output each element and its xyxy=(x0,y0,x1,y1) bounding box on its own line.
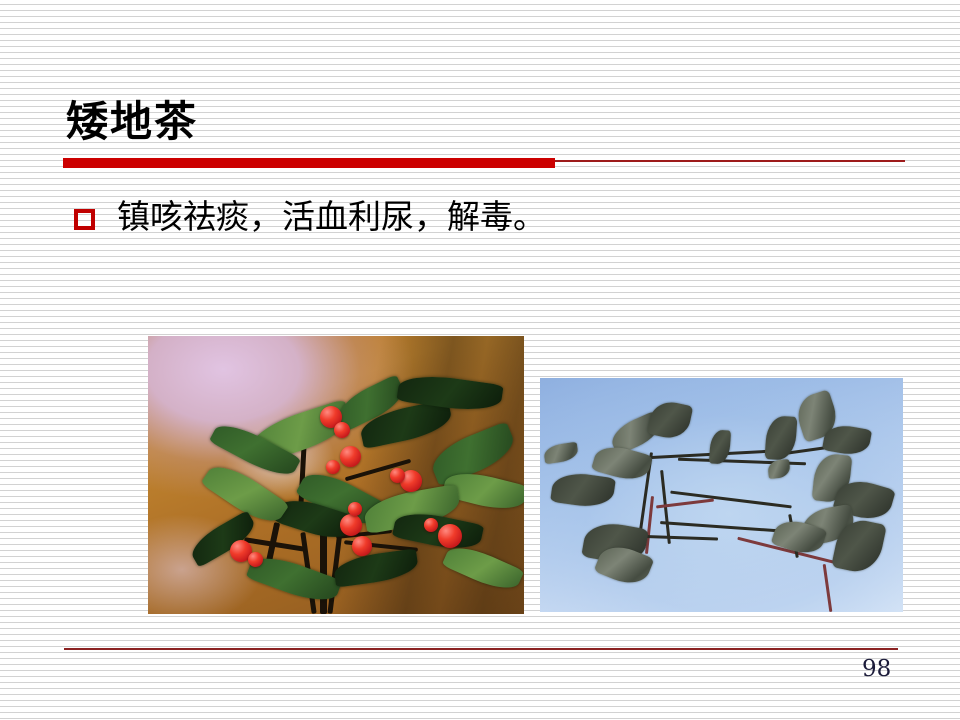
page-number: 98 xyxy=(862,656,902,682)
footer-rule xyxy=(64,648,898,650)
dried-herb-photo xyxy=(540,378,903,612)
slide-canvas: 矮地茶 镇咳祛痰，活血利尿，解毒。 xyxy=(0,0,960,720)
title-accent-rule xyxy=(555,160,905,162)
title-accent-bar xyxy=(63,158,555,168)
hollow-square-bullet-icon xyxy=(74,209,95,230)
bullet-item-label: 镇咳祛痰，活血利尿，解毒。 xyxy=(117,196,546,238)
bullet-list-item: 镇咳祛痰，活血利尿，解毒。 xyxy=(74,196,546,238)
page-title: 矮地茶 xyxy=(66,96,198,148)
berries-photo xyxy=(148,336,524,614)
